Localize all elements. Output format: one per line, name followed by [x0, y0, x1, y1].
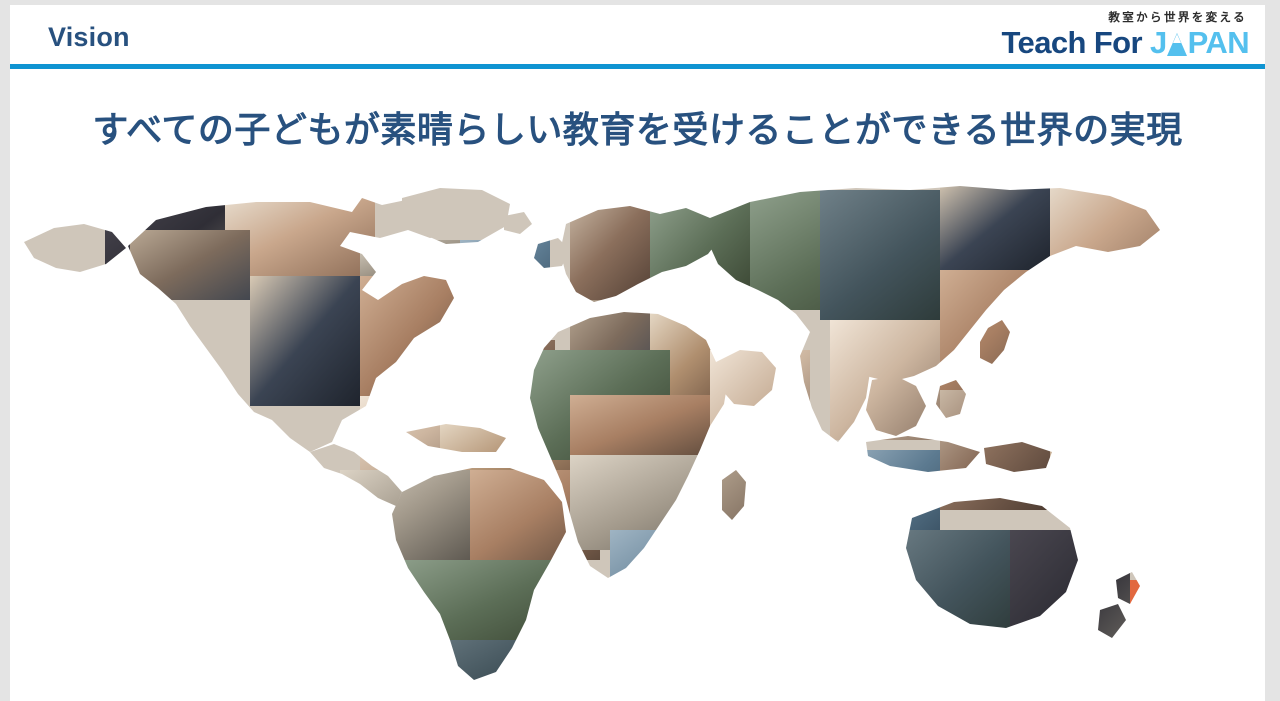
slide-canvas: Vision 教室から世界を変える Teach For JPAN すべての子ども… [10, 5, 1265, 701]
continent-north-america [128, 198, 476, 452]
continent-central-america [310, 444, 402, 506]
brand-word-for: For [1094, 25, 1142, 60]
world-map-svg [10, 180, 1265, 680]
header-divider [10, 64, 1265, 69]
continent-europe [560, 206, 722, 302]
region-southeast-asia [866, 376, 926, 436]
page-title: Vision [48, 22, 130, 53]
continent-greenland [402, 188, 510, 244]
island-new-zealand-south [1098, 604, 1126, 638]
continent-asia [708, 186, 1160, 382]
world-map-collage [10, 180, 1265, 680]
islands-caribbean [406, 424, 506, 452]
brand-word-teach: Teach [1002, 25, 1086, 60]
mountain-icon [1167, 33, 1188, 56]
brand-word-japan-j: J [1150, 25, 1167, 60]
island-madagascar [722, 470, 746, 520]
brand-wordmark: Teach For JPAN [1002, 27, 1249, 58]
brand-logo: 教室から世界を変える Teach For JPAN [949, 9, 1249, 63]
continent-shapes [24, 186, 1160, 680]
island-new-guinea [984, 442, 1052, 472]
continent-south-america [392, 468, 566, 680]
island-japan [980, 320, 1010, 364]
islands-philippines [936, 380, 966, 418]
islands-indonesia [866, 436, 980, 472]
vision-statement: すべての子どもが素晴らしい教育を受けることができる世界の実現 [10, 101, 1265, 153]
slide-header: Vision 教室から世界を変える Teach For JPAN [10, 5, 1265, 66]
continent-australia [906, 498, 1078, 628]
continent-alaska [24, 224, 126, 272]
islands-iceland [504, 212, 532, 234]
brand-tagline: 教室から世界を変える [949, 12, 1247, 24]
brand-word-japan-pan: PAN [1188, 25, 1249, 60]
island-new-zealand [1116, 572, 1140, 604]
